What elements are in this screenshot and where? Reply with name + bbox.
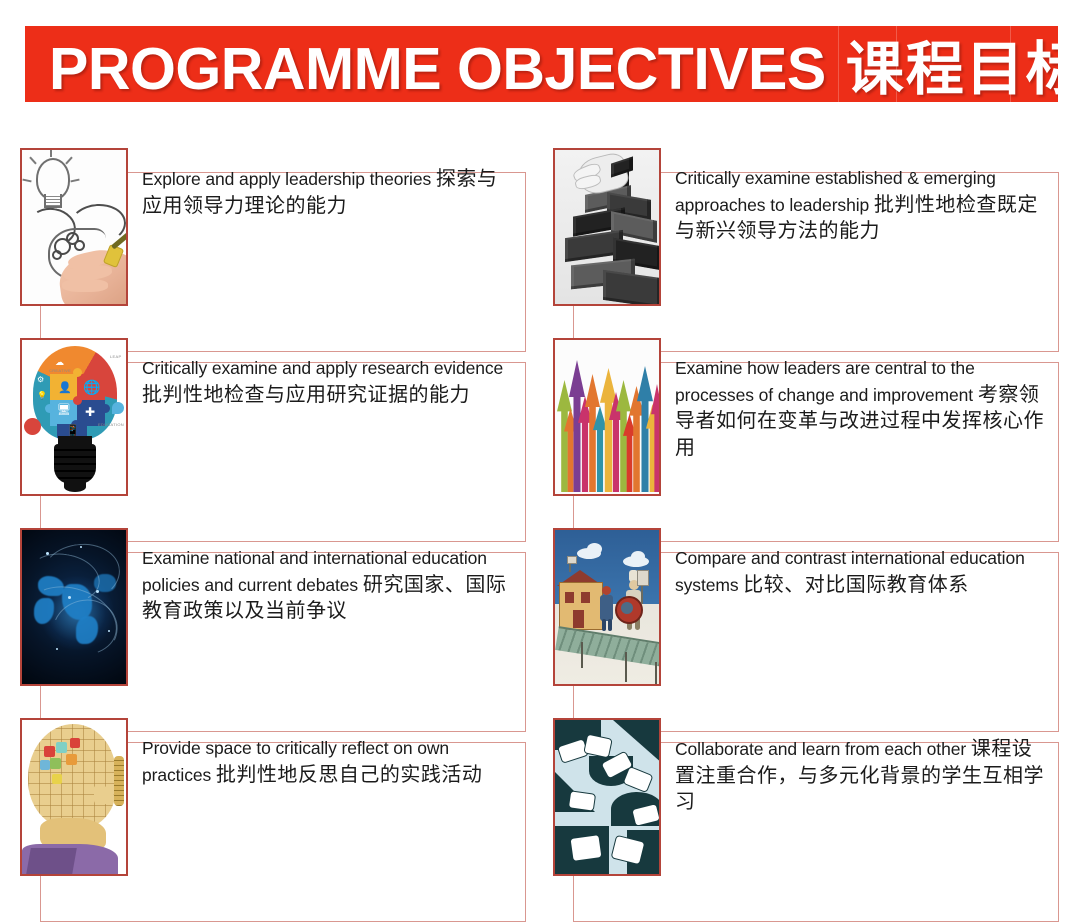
- objective-card-1: Explore and apply leadership theories 探索…: [20, 148, 530, 334]
- objective-text-1: Explore and apply leadership theories 探索…: [142, 166, 517, 219]
- objective-text-4: Examine how leaders are central to the p…: [675, 356, 1050, 461]
- objective-card-2: Critically examine established & emergin…: [553, 148, 1063, 334]
- global-network-globe-image: [20, 528, 128, 686]
- objective-text-3-zh: 批判性地检查与应用研究证据的能力: [142, 382, 470, 406]
- collaborating-hands-image: [553, 718, 661, 876]
- colorful-upward-arrows-image: [553, 338, 661, 496]
- page-header-band: PROGRAMME OBJECTIVES 课程目标: [25, 26, 1058, 102]
- schoolhouse-bridge-illustration-image: [553, 528, 661, 686]
- page-title-chinese: 课程目标: [846, 26, 1058, 102]
- objective-card-4: Examine how leaders are central to the p…: [553, 338, 1063, 524]
- objective-card-5: Examine national and international educa…: [20, 528, 530, 714]
- puzzle-piece-lightbulb-image: ☁ 👤 🌐 🖥 ✚ 📱 ⚙ 💡 CREATIVE LEAP EDUCATION: [20, 338, 128, 496]
- objective-card-6: Compare and contrast international educa…: [553, 528, 1063, 714]
- objective-card-3: Critically examine and apply research ev…: [20, 338, 530, 524]
- objective-card-8: Collaborate and learn from each other 课程…: [553, 718, 1063, 904]
- header-seam-3: [1010, 26, 1011, 102]
- objective-card-7: Provide space to critically reflect on o…: [20, 718, 530, 904]
- objective-text-6: Compare and contrast international educa…: [675, 546, 1050, 598]
- objective-text-8-en: Collaborate and learn from each other: [675, 739, 966, 759]
- objective-text-7-zh: 批判性地反思自己的实践活动: [216, 762, 483, 786]
- header-seam-2: [896, 26, 897, 102]
- hand-placing-block-staircase-image: [553, 148, 661, 306]
- objective-text-3-en: Critically examine and apply research ev…: [142, 358, 503, 378]
- puzzle-head-profile-image: [20, 718, 128, 876]
- objective-text-5: Examine national and international educa…: [142, 546, 517, 625]
- objective-text-3: Critically examine and apply research ev…: [142, 356, 517, 408]
- lightbulb-brain-sketch-hand-image: [20, 148, 128, 306]
- objective-text-8: Collaborate and learn from each other 课程…: [675, 736, 1050, 816]
- objective-text-1-en: Explore and apply leadership theories: [142, 169, 431, 189]
- objective-text-4-en: Examine how leaders are central to the p…: [675, 358, 975, 405]
- objectives-grid: Explore and apply leadership theories 探索…: [0, 118, 1080, 913]
- objective-text-2: Critically examine established & emergin…: [675, 166, 1050, 245]
- objective-text-6-zh: 比较、对比国际教育体系: [743, 572, 969, 596]
- header-seam-1: [838, 26, 839, 102]
- objective-text-7: Provide space to critically reflect on o…: [142, 736, 517, 788]
- page-title-english: PROGRAMME OBJECTIVES: [49, 35, 826, 102]
